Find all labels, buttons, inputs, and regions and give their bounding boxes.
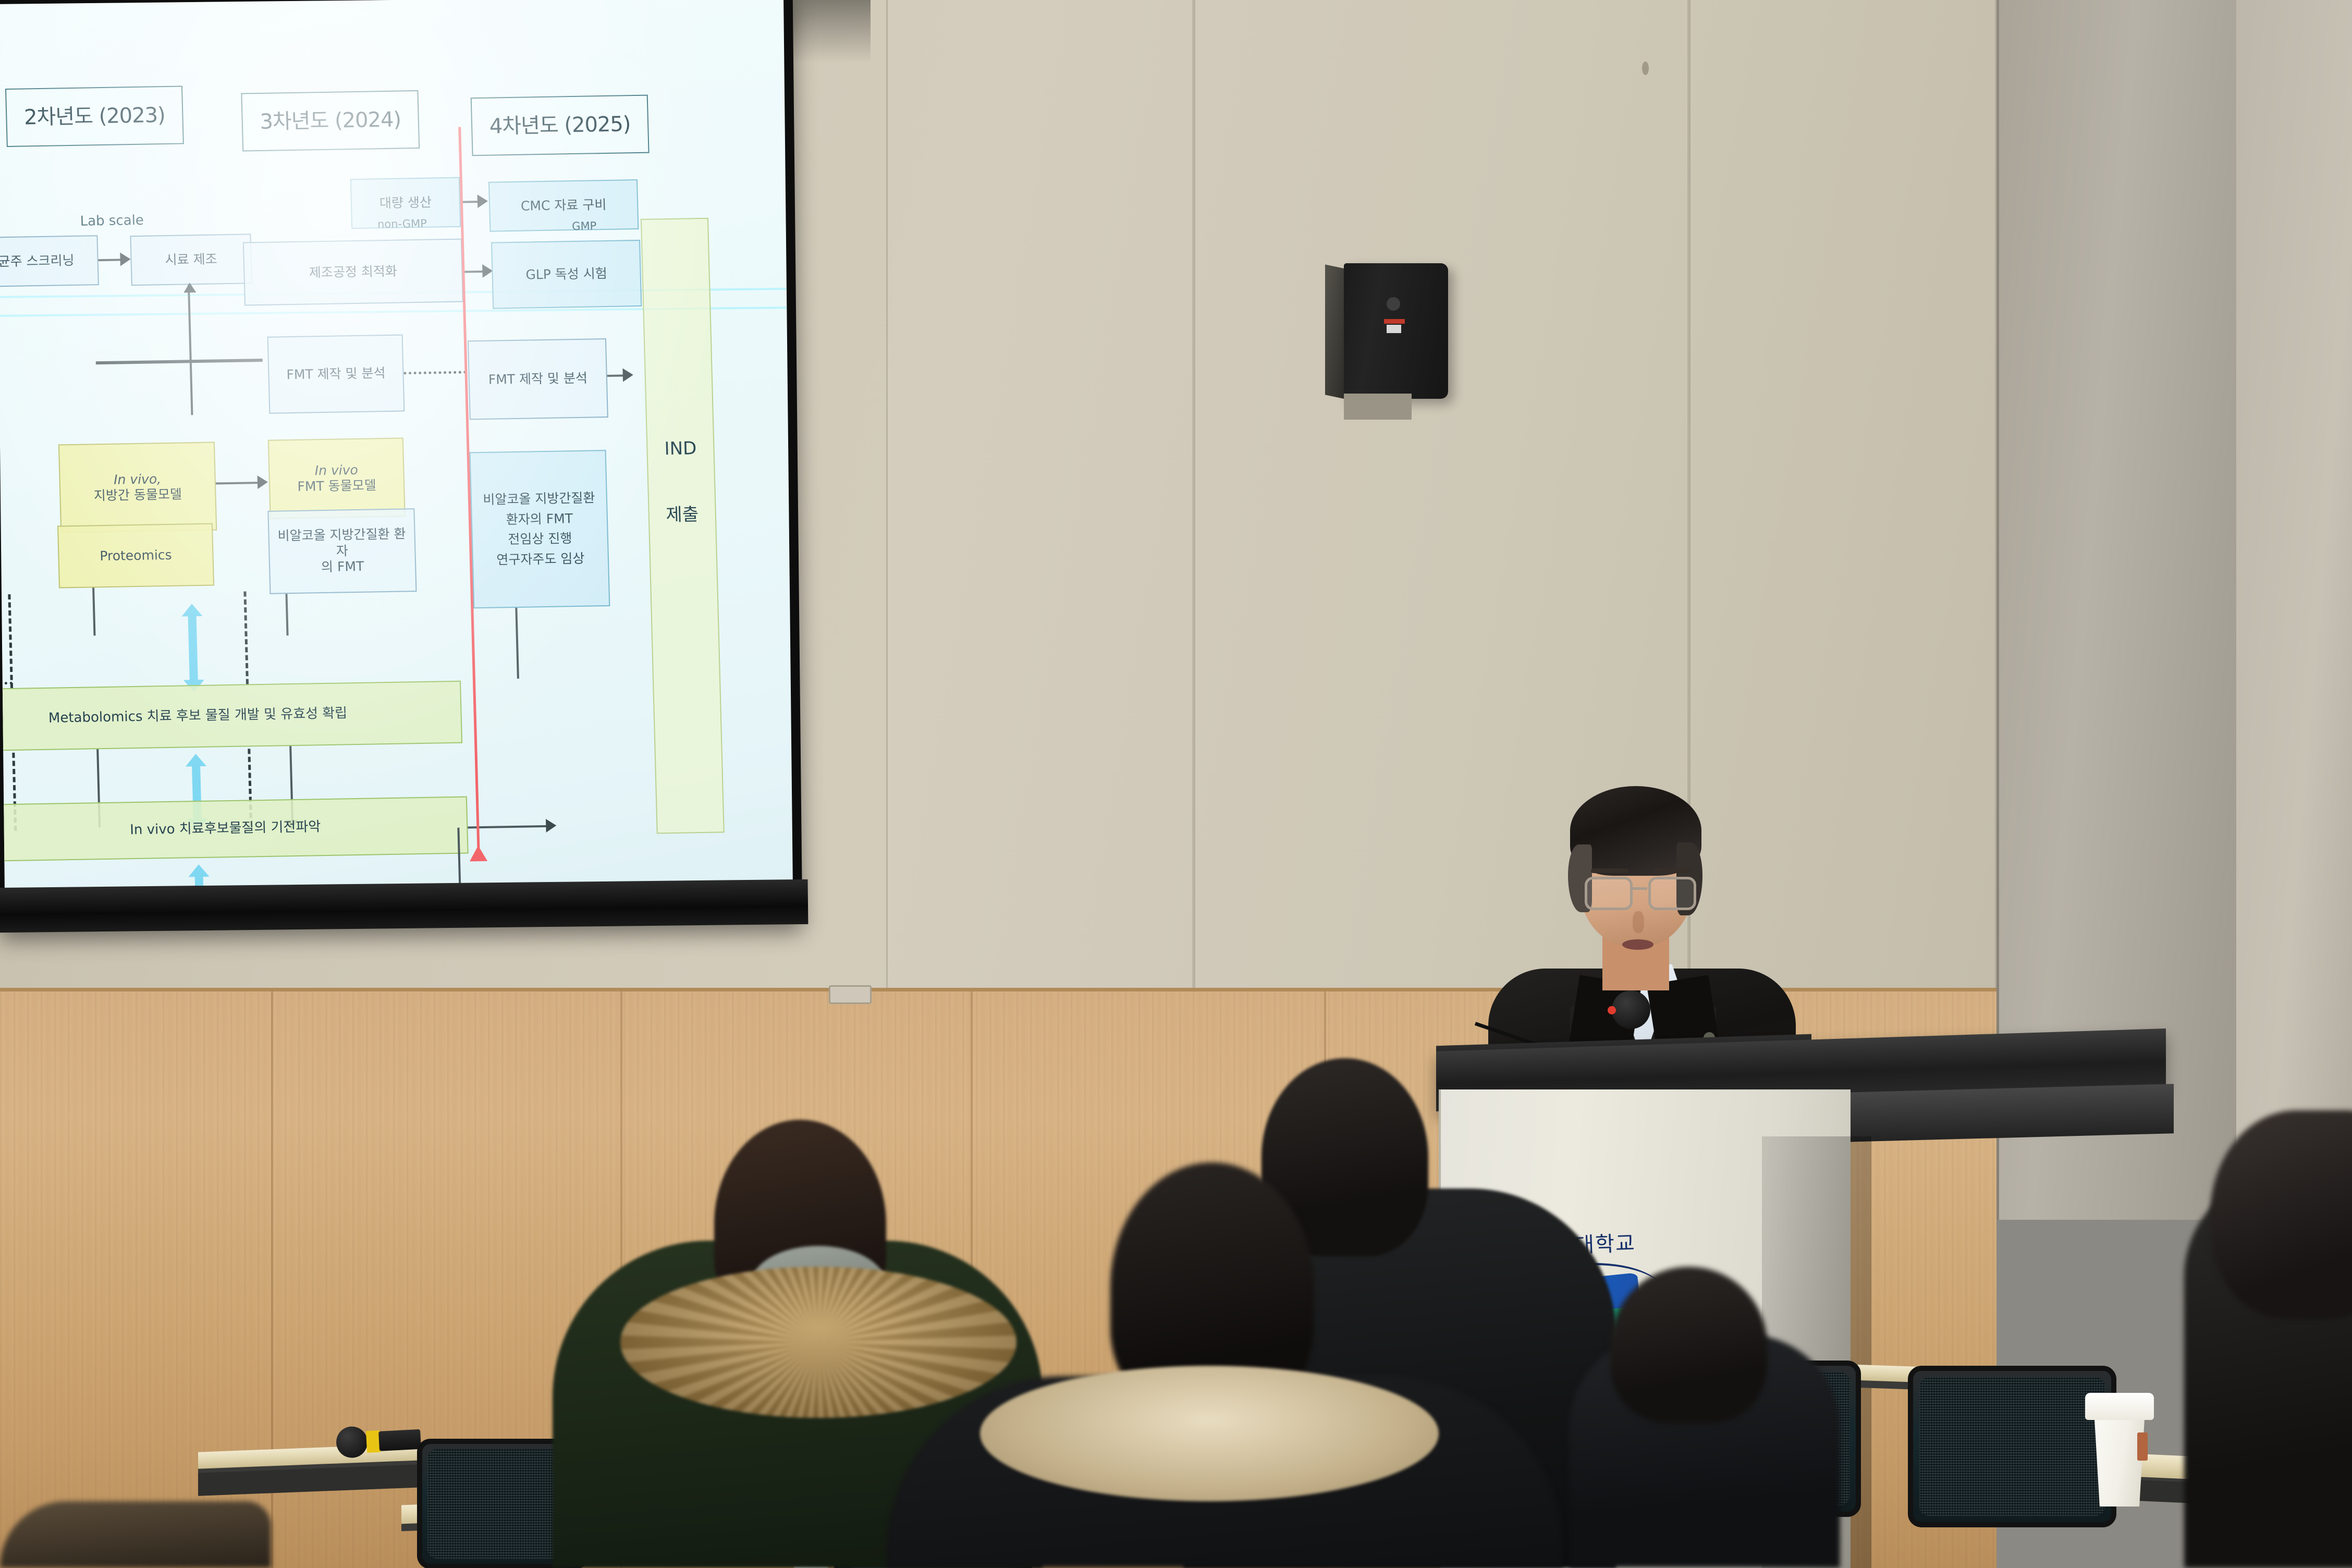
eyeglasses-left-lens	[1585, 877, 1633, 910]
speaker-tweeter-icon	[1387, 297, 1400, 311]
box-proteomics: Proteomics	[57, 523, 214, 589]
presenter-mouth	[1622, 939, 1653, 950]
coffee-cup-tab	[2137, 1432, 2148, 1461]
cmc-data-sub: GMP	[572, 219, 597, 232]
microphone-status-led	[1608, 1006, 1616, 1014]
box-metabolomics: Metabolomics 치료 후보 물질 개발 및 유효성 확립	[0, 681, 462, 752]
wall-outlet	[829, 985, 872, 1004]
projection-screen-surface: 2차년도 (2023) 3차년도 (2024) 4차년도 (2025) IND …	[0, 0, 793, 890]
presenter-brow-left	[1591, 868, 1628, 873]
seminar-room-scene: 2차년도 (2023) 3차년도 (2024) 4차년도 (2025) IND …	[0, 0, 2352, 1568]
lab-scale-label: Lab scale	[80, 213, 144, 229]
box-nafld-preclinical: 비알코올 지방간질환환자의 FMT전임상 진행연구자주도 임상	[470, 450, 610, 608]
slide-header-year-4: 4차년도 (2025)	[471, 95, 650, 156]
ind-label-line2: 제출	[666, 505, 699, 526]
mass-production-sub: non-GMP	[377, 217, 427, 231]
wall-panel	[886, 0, 1194, 1006]
box-fmt-prep-y4: FMT 제작 및 분석	[468, 338, 608, 420]
box-in-vivo-fmt-model: In vivoFMT 동물모델	[268, 437, 406, 519]
wall-blemish	[1642, 62, 1649, 75]
eyeglasses-right-lens	[1648, 877, 1696, 910]
box-in-vivo-mechanism: In vivo 치료후보물질의 기전파악	[0, 797, 469, 862]
microphone-icon	[1612, 990, 1650, 1029]
box-nafld-patient-fmt: 비알코올 지방간질환 환자의 FMT	[267, 508, 416, 594]
box-in-vivo-fatty-liver: In vivo,지방간 동물모델	[58, 442, 217, 533]
handheld-microphone[interactable]	[336, 1426, 420, 1455]
far-right-wall	[2236, 0, 2352, 1251]
ind-submission-column: IND 제출	[641, 218, 725, 834]
box-mass-production-label: 대량 생산	[379, 194, 432, 211]
chair	[1908, 1366, 2116, 1527]
coffee-cup-lid	[2085, 1393, 2154, 1420]
slide-header-year-3: 3차년도 (2024)	[241, 90, 420, 152]
box-sample-manufacture: 시료 제조	[130, 234, 252, 286]
bidirectional-arrow	[181, 604, 204, 693]
timeline-marker-arrow	[469, 846, 487, 862]
slide-header-year-2: 2차년도 (2023)	[5, 85, 184, 147]
slide-roadmap-diagram: 2차년도 (2023) 3차년도 (2024) 4차년도 (2025) IND …	[0, 29, 793, 857]
presenter-brow-right	[1653, 868, 1691, 873]
box-cmc-data: CMC 자료 구비	[488, 179, 639, 232]
microphone-body	[378, 1429, 421, 1451]
box-strain-screening: 균주 스크리닝	[0, 235, 99, 287]
speaker-badge-white	[1387, 325, 1401, 333]
microphone-head-icon	[336, 1426, 369, 1459]
speaker-mount-bracket	[1344, 394, 1412, 420]
box-glp-tox: GLP 독성 시험	[491, 240, 642, 309]
foreground-object	[0, 1501, 271, 1568]
projection-screen-bottom-bar	[0, 879, 808, 933]
audience-member-fur-hood	[980, 1366, 1439, 1501]
box-process-optimization: 제조공정 최적화	[243, 239, 463, 306]
ind-label-line1: IND	[664, 438, 697, 460]
eyeglasses-bridge	[1632, 887, 1647, 890]
presenter-nose	[1633, 911, 1644, 933]
box-fmt-prep-y3: FMT 제작 및 분석	[267, 334, 405, 413]
audience-member-fur-hood	[620, 1267, 1016, 1418]
wall-panel	[1689, 0, 1996, 1006]
audience-member-head	[1611, 1267, 1767, 1423]
speaker-badge	[1384, 319, 1405, 324]
